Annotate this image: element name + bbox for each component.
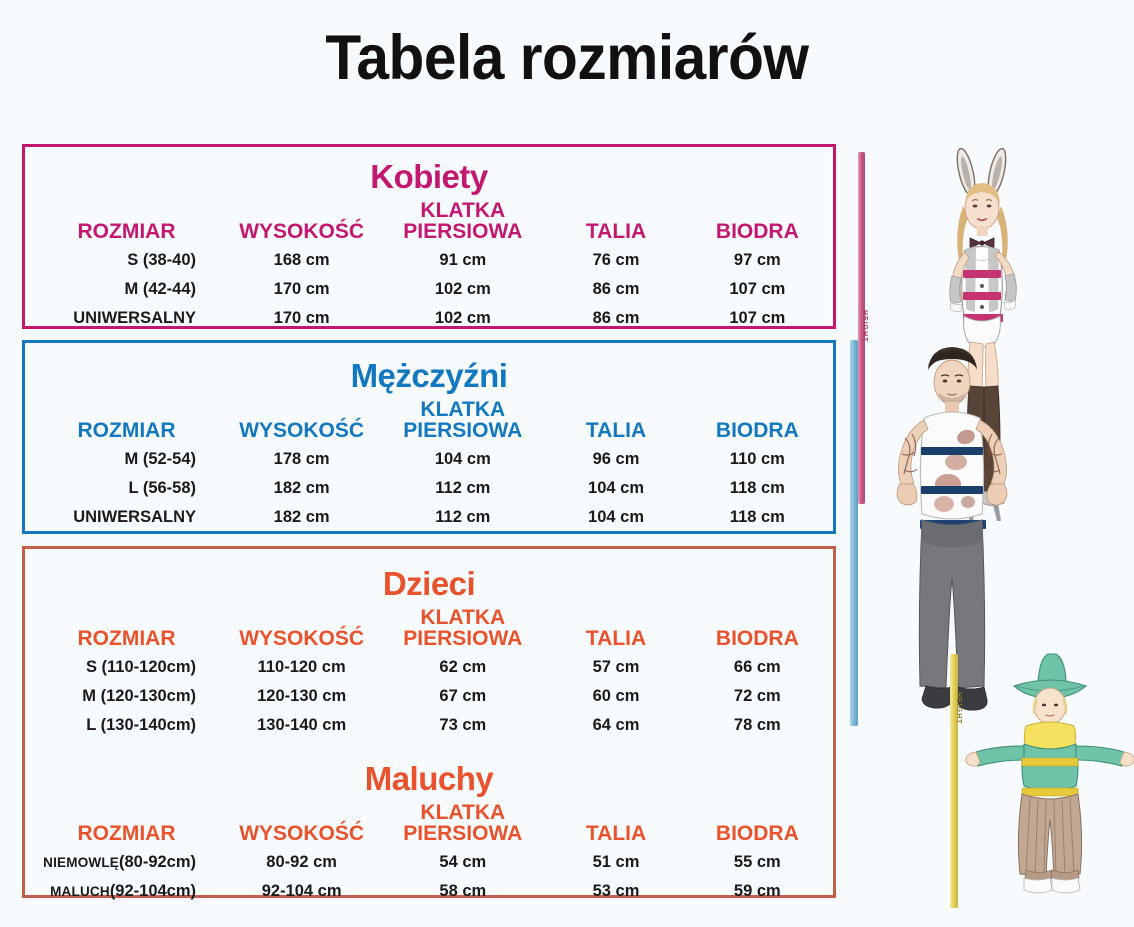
cell-chest: 58 cm (381, 877, 544, 906)
section-heading-toddlers: Maluchy (25, 760, 833, 798)
col-header-hips: BIODRA (688, 397, 827, 445)
figure-child: HEIGHT (932, 648, 1132, 916)
cell-height: 92-104 cm (222, 877, 381, 906)
size-chart-page: Tabela rozmiarów Kobiety ROZMIAR WYSOKOŚ… (0, 0, 1134, 927)
table-row: M (42-44) 170 cm 102 cm 86 cm 107 cm (31, 275, 827, 304)
table-row: L (130-140cm) 130-140 cm 73 cm 64 cm 78 … (31, 711, 827, 740)
cell-height: 120-130 cm (222, 682, 381, 711)
section-kids: Dzieci ROZMIAR WYSOKOŚĆ KLATKA PIERSIOWA… (22, 546, 836, 898)
table-row: M (52-54) 178 cm 104 cm 96 cm 110 cm (31, 445, 827, 474)
cell-height: 170 cm (222, 275, 381, 304)
cell-hips: 110 cm (688, 445, 827, 474)
figures-panel: HEIGHT (836, 130, 1134, 920)
cell-hips: 118 cm (688, 503, 827, 532)
table-row: MALUCH(92-104cm) 92-104 cm 58 cm 53 cm 5… (31, 877, 827, 906)
table-wrap-women: ROZMIAR WYSOKOŚĆ KLATKA PIERSIOWA TALIA … (25, 198, 833, 333)
table-header-row: ROZMIAR WYSOKOŚĆ KLATKA PIERSIOWA TALIA … (31, 198, 827, 246)
section-women: Kobiety ROZMIAR WYSOKOŚĆ KLATKA PIERSIOW… (22, 144, 836, 329)
cell-size: M (52-54) (31, 445, 222, 474)
cell-size-word: MALUCH (50, 884, 110, 899)
cell-chest: 102 cm (381, 304, 544, 333)
cell-waist: 57 cm (544, 653, 687, 682)
cell-hips: 66 cm (688, 653, 827, 682)
cell-hips: 78 cm (688, 711, 827, 740)
col-header-waist: TALIA (544, 605, 687, 653)
cell-size: L (56-58) (31, 474, 222, 503)
col-header-size: ROZMIAR (31, 397, 222, 445)
section-men: Mężczyźni ROZMIAR WYSOKOŚĆ KLATKA PIERSI… (22, 340, 836, 534)
col-header-chest: KLATKA PIERSIOWA (381, 800, 544, 848)
height-rod-blue (850, 340, 858, 726)
cell-chest: 104 cm (381, 445, 544, 474)
cell-hips: 55 cm (688, 848, 827, 877)
table-header-row: ROZMIAR WYSOKOŚĆ KLATKA PIERSIOWA TALIA … (31, 397, 827, 445)
cell-height: 130-140 cm (222, 711, 381, 740)
table-wrap-kids: ROZMIAR WYSOKOŚĆ KLATKA PIERSIOWA TALIA … (25, 605, 833, 740)
cell-size-range: (92-104cm) (110, 882, 196, 900)
cell-hips: 118 cm (688, 474, 827, 503)
cell-height: 80-92 cm (222, 848, 381, 877)
col-header-hips: BIODRA (688, 605, 827, 653)
cell-waist: 86 cm (544, 275, 687, 304)
cell-chest: 67 cm (381, 682, 544, 711)
child-illustration (960, 648, 1134, 912)
table-row: UNIWERSALNY 170 cm 102 cm 86 cm 107 cm (31, 304, 827, 333)
cell-waist: 64 cm (544, 711, 687, 740)
cell-hips: 107 cm (688, 275, 827, 304)
table-header-row: ROZMIAR WYSOKOŚĆ KLATKA PIERSIOWA TALIA … (31, 800, 827, 848)
cell-size: S (110-120cm) (31, 653, 222, 682)
col-header-height: WYSOKOŚĆ (222, 800, 381, 848)
cell-chest: 54 cm (381, 848, 544, 877)
cell-size: M (120-130cm) (31, 682, 222, 711)
table-row: M (120-130cm) 120-130 cm 67 cm 60 cm 72 … (31, 682, 827, 711)
cell-hips: 59 cm (688, 877, 827, 906)
cell-hips: 107 cm (688, 304, 827, 333)
cell-waist: 104 cm (544, 474, 687, 503)
size-table-women: ROZMIAR WYSOKOŚĆ KLATKA PIERSIOWA TALIA … (31, 198, 827, 333)
col-header-height: WYSOKOŚĆ (222, 605, 381, 653)
cell-waist: 53 cm (544, 877, 687, 906)
size-table-toddlers: ROZMIAR WYSOKOŚĆ KLATKA PIERSIOWA TALIA … (31, 800, 827, 906)
cell-hips: 72 cm (688, 682, 827, 711)
cell-chest: 112 cm (381, 503, 544, 532)
table-row: S (110-120cm) 110-120 cm 62 cm 57 cm 66 … (31, 653, 827, 682)
cell-height: 110-120 cm (222, 653, 381, 682)
table-row: NIEMOWLĘ(80-92cm) 80-92 cm 54 cm 51 cm 5… (31, 848, 827, 877)
size-table-kids: ROZMIAR WYSOKOŚĆ KLATKA PIERSIOWA TALIA … (31, 605, 827, 740)
cell-size: M (42-44) (31, 275, 222, 304)
cell-chest: 112 cm (381, 474, 544, 503)
cell-size: UNIWERSALNY (31, 503, 222, 532)
cell-waist: 96 cm (544, 445, 687, 474)
col-header-chest: KLATKA PIERSIOWA (381, 605, 544, 653)
col-header-hips: BIODRA (688, 800, 827, 848)
cell-height: 168 cm (222, 246, 381, 275)
col-header-height: WYSOKOŚĆ (222, 198, 381, 246)
section-heading-women: Kobiety (25, 158, 833, 196)
cell-waist: 51 cm (544, 848, 687, 877)
table-wrap-toddlers: ROZMIAR WYSOKOŚĆ KLATKA PIERSIOWA TALIA … (25, 800, 833, 906)
cell-height: 182 cm (222, 503, 381, 532)
cell-size-range: (80-92cm) (119, 853, 196, 871)
table-row: L (56-58) 182 cm 112 cm 104 cm 118 cm (31, 474, 827, 503)
cell-height: 182 cm (222, 474, 381, 503)
cell-waist: 60 cm (544, 682, 687, 711)
cell-size: NIEMOWLĘ(80-92cm) (31, 848, 222, 877)
col-header-size: ROZMIAR (31, 605, 222, 653)
table-wrap-men: ROZMIAR WYSOKOŚĆ KLATKA PIERSIOWA TALIA … (25, 397, 833, 532)
page-title: Tabela rozmiarów (40, 22, 1095, 94)
size-table-men: ROZMIAR WYSOKOŚĆ KLATKA PIERSIOWA TALIA … (31, 397, 827, 532)
cell-waist: 104 cm (544, 503, 687, 532)
cell-chest: 62 cm (381, 653, 544, 682)
cell-size: L (130-140cm) (31, 711, 222, 740)
cell-chest: 73 cm (381, 711, 544, 740)
cell-hips: 97 cm (688, 246, 827, 275)
cell-size: MALUCH(92-104cm) (31, 877, 222, 906)
col-header-hips: BIODRA (688, 198, 827, 246)
table-row: UNIWERSALNY 182 cm 112 cm 104 cm 118 cm (31, 503, 827, 532)
section-heading-kids: Dzieci (25, 565, 833, 603)
cell-size: S (38-40) (31, 246, 222, 275)
cell-height: 170 cm (222, 304, 381, 333)
col-header-chest: KLATKA PIERSIOWA (381, 397, 544, 445)
cell-size-word: NIEMOWLĘ (43, 855, 119, 870)
col-header-chest: KLATKA PIERSIOWA (381, 198, 544, 246)
cell-height: 178 cm (222, 445, 381, 474)
col-header-height: WYSOKOŚĆ (222, 397, 381, 445)
col-header-size: ROZMIAR (31, 198, 222, 246)
cell-size: UNIWERSALNY (31, 304, 222, 333)
section-heading-men: Mężczyźni (25, 357, 833, 395)
table-row: S (38-40) 168 cm 91 cm 76 cm 97 cm (31, 246, 827, 275)
col-header-waist: TALIA (544, 800, 687, 848)
col-header-waist: TALIA (544, 198, 687, 246)
table-header-row: ROZMIAR WYSOKOŚĆ KLATKA PIERSIOWA TALIA … (31, 605, 827, 653)
cell-waist: 76 cm (544, 246, 687, 275)
col-header-waist: TALIA (544, 397, 687, 445)
cell-chest: 91 cm (381, 246, 544, 275)
cell-chest: 102 cm (381, 275, 544, 304)
col-header-size: ROZMIAR (31, 800, 222, 848)
cell-waist: 86 cm (544, 304, 687, 333)
